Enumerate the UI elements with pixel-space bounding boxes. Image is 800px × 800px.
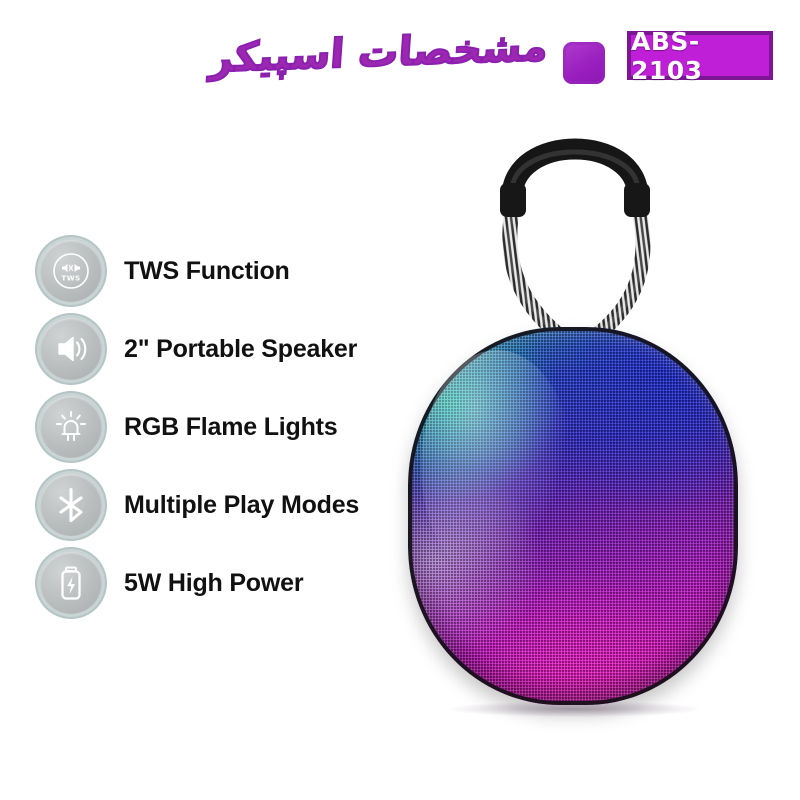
feature-row: RGB Flame Lights: [40, 388, 400, 466]
infographic-canvas: مشخصات اسپیکر ABS-2103: [0, 0, 800, 800]
feature-label: TWS Function: [124, 257, 290, 286]
sku-badge-label: ABS-2103: [631, 27, 769, 85]
bluetooth-icon: [40, 474, 102, 536]
feature-list: TWS TWS Function 2" Portable Speaker: [40, 232, 400, 622]
feature-label: 2" Portable Speaker: [124, 335, 357, 364]
speaker-volume-icon: [40, 318, 102, 380]
product-image: [390, 105, 790, 715]
feature-label: 5W High Power: [124, 569, 303, 598]
feature-row: 2" Portable Speaker: [40, 310, 400, 388]
sku-badge: ABS-2103: [627, 31, 773, 80]
speaker-housing: [408, 327, 738, 705]
led-bulb-light-icon: [40, 396, 102, 458]
purple-rounded-square-icon: [563, 42, 605, 84]
page-title-persian: مشخصات اسپیکر: [209, 24, 550, 82]
tws-dual-speaker-icon: TWS: [40, 240, 102, 302]
battery-bolt-icon: [40, 552, 102, 614]
speaker-grille: [408, 327, 738, 705]
header: مشخصات اسپیکر ABS-2103: [0, 0, 800, 110]
svg-text:TWS: TWS: [61, 274, 80, 283]
speaker-mesh-texture: [412, 331, 734, 701]
lanyard-strap-icon: [390, 105, 790, 355]
feature-row: 5W High Power: [40, 544, 400, 622]
feature-label: RGB Flame Lights: [124, 413, 338, 442]
product-drop-shadow: [450, 701, 700, 717]
feature-row: TWS TWS Function: [40, 232, 400, 310]
feature-row: Multiple Play Modes: [40, 466, 400, 544]
feature-label: Multiple Play Modes: [124, 491, 359, 520]
